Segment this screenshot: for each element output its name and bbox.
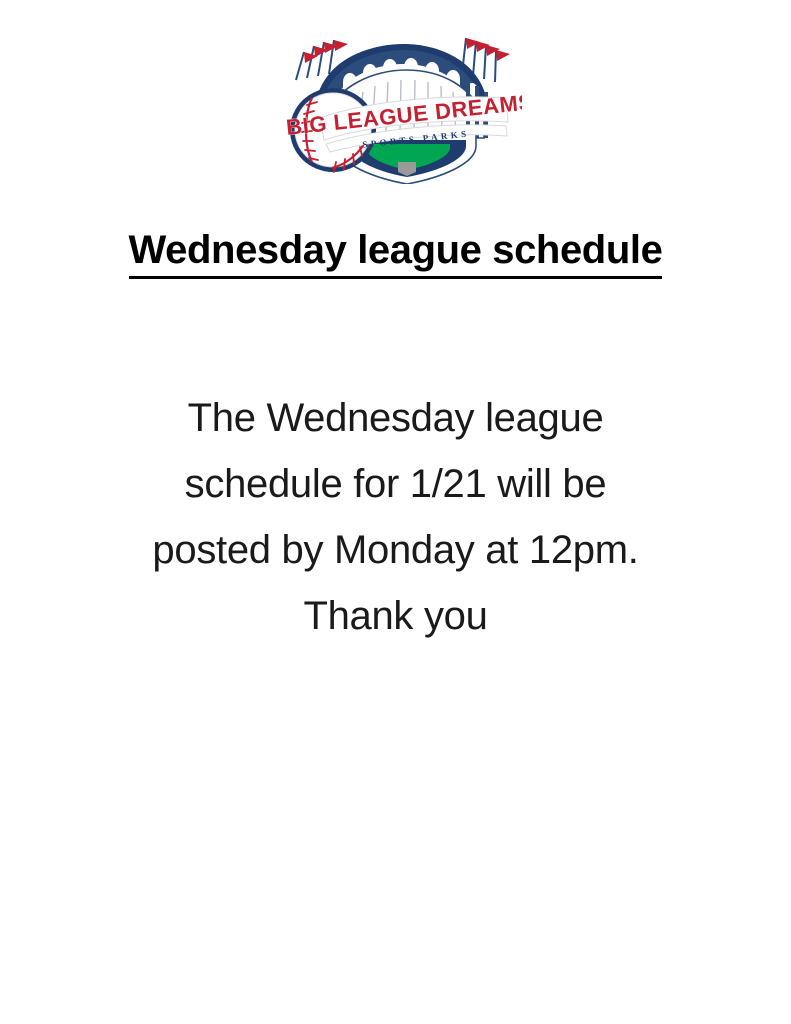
body-line: Thank you bbox=[0, 583, 791, 649]
page-title: Wednesday league schedule bbox=[0, 228, 791, 279]
body-line: The Wednesday league bbox=[0, 385, 791, 451]
body-line: schedule for 1/21 will be bbox=[0, 451, 791, 517]
document-page: BIG LEAGUE DREAMS SPORTS PARKS Wednesday… bbox=[0, 0, 791, 1024]
logo-container: BIG LEAGUE DREAMS SPORTS PARKS bbox=[0, 22, 791, 184]
big-league-dreams-logo: BIG LEAGUE DREAMS SPORTS PARKS bbox=[270, 22, 522, 184]
announcement-body: The Wednesday league schedule for 1/21 w… bbox=[0, 385, 791, 649]
page-title-text: Wednesday league schedule bbox=[129, 228, 663, 279]
body-line: posted by Monday at 12pm. bbox=[0, 517, 791, 583]
